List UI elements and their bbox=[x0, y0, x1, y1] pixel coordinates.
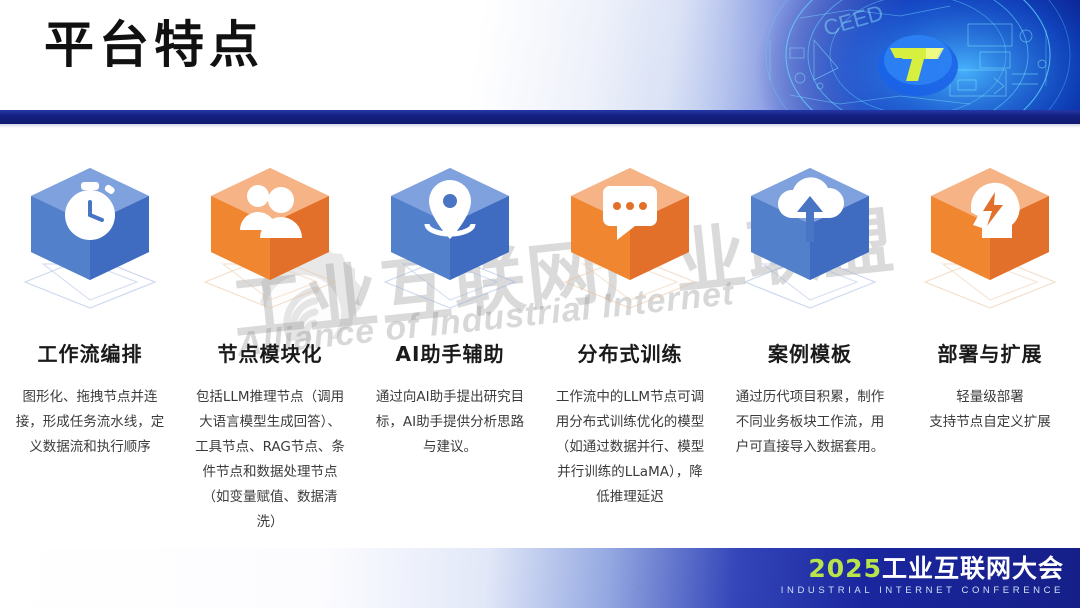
conference-name-cn: 工业互联网大会 bbox=[882, 554, 1064, 583]
tech-globe-graphic: CEED bbox=[650, 0, 1080, 110]
feature-card-grid: 工作流编排 图形化、拖拽节点并连接，形成任务流水线，定义数据流和执行顺序 bbox=[0, 160, 1080, 560]
page-title: 平台特点 bbox=[44, 20, 264, 70]
feature-card-deploy-extend[interactable]: 部署与扩展 轻量级部署支持节点自定义扩展 bbox=[900, 160, 1080, 560]
card-body: 通过历代项目积累，制作不同业务板块工作流，用户可直接导入数据套用。 bbox=[735, 385, 885, 460]
cube-blue-3 bbox=[735, 160, 885, 320]
cube-orange-1 bbox=[195, 160, 345, 320]
slide-root: CEED 平台特点 bbox=[0, 0, 1080, 608]
footer-dot bbox=[637, 585, 641, 589]
header-rule-shadow bbox=[0, 124, 1080, 128]
card-body: 轻量级部署支持节点自定义扩展 bbox=[915, 385, 1065, 435]
feature-card-node-modular[interactable]: 节点模块化 包括LLM推理节点（调用大语言模型生成回答）、工具节点、RAG节点、… bbox=[180, 160, 360, 560]
card-title: 节点模块化 bbox=[218, 338, 323, 367]
card-body: 图形化、拖拽节点并连接，形成任务流水线，定义数据流和执行顺序 bbox=[15, 385, 165, 460]
card-body: 包括LLM推理节点（调用大语言模型生成回答）、工具节点、RAG节点、条件节点和数… bbox=[195, 385, 345, 535]
card-body: 工作流中的LLM节点可调用分布式训练优化的模型（如通过数据并行、模型并行训练的L… bbox=[555, 385, 705, 510]
card-title: 工作流编排 bbox=[38, 338, 143, 367]
card-body: 通过向AI助手提出研究目标，AI助手提供分析思路与建议。 bbox=[375, 385, 525, 460]
slide-header: CEED 平台特点 bbox=[0, 0, 1080, 110]
conference-name-en: INDUSTRIAL INTERNET CONFERENCE bbox=[781, 586, 1064, 596]
card-title: 分布式训练 bbox=[578, 338, 683, 367]
feature-card-workflow[interactable]: 工作流编排 图形化、拖拽节点并连接，形成任务流水线，定义数据流和执行顺序 bbox=[0, 160, 180, 560]
cube-blue-2 bbox=[375, 160, 525, 320]
card-title: 部署与扩展 bbox=[938, 338, 1043, 367]
header-rule bbox=[0, 110, 1080, 124]
feature-card-distributed-training[interactable]: 分布式训练 工作流中的LLM节点可调用分布式训练优化的模型（如通过数据并行、模型… bbox=[540, 160, 720, 560]
cube-orange-2 bbox=[555, 160, 705, 320]
card-title: 案例模板 bbox=[768, 338, 852, 367]
feature-card-ai-assistant[interactable]: AI助手辅助 通过向AI助手提出研究目标，AI助手提供分析思路与建议。 bbox=[360, 160, 540, 560]
card-title: AI助手辅助 bbox=[396, 338, 505, 367]
cube-blue-1 bbox=[15, 160, 165, 320]
conference-year: 2025 bbox=[808, 554, 882, 583]
conference-logo: 2025工业互联网大会 INDUSTRIAL INTERNET CONFEREN… bbox=[781, 556, 1064, 596]
feature-card-case-template[interactable]: 案例模板 通过历代项目积累，制作不同业务板块工作流，用户可直接导入数据套用。 bbox=[720, 160, 900, 560]
location-pin-icon bbox=[427, 180, 473, 239]
cube-orange-3 bbox=[915, 160, 1065, 320]
